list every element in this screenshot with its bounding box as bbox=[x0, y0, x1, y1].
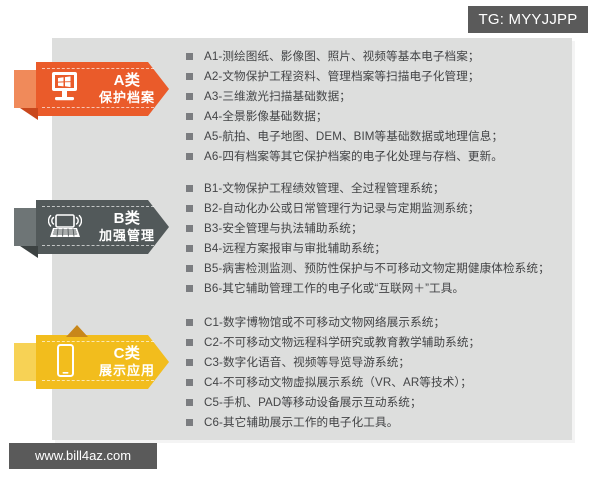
list-item: B6-其它辅助管理工作的电子化或“互联网＋”工具。 bbox=[186, 280, 588, 297]
list-item: A4-全景影像基础数据； bbox=[186, 108, 588, 125]
banner-labels: B类 加强管理 bbox=[82, 210, 169, 244]
list-item-label: B1-文物保护工程绩效管理、全过程管理系统； bbox=[204, 180, 588, 197]
bullet-icon bbox=[186, 113, 193, 120]
banner-sub-label: 加强管理 bbox=[85, 227, 169, 244]
list-item-label: C2-不可移动文物远程科学研究或教育教学辅助系统； bbox=[204, 334, 588, 351]
list-item-label: A3-三维激光扫描基础数据； bbox=[204, 88, 588, 105]
bullet-icon bbox=[186, 225, 193, 232]
list-item: B2-自动化办公或日常管理行为记录与定期监测系统； bbox=[186, 200, 588, 217]
bullet-icon bbox=[186, 379, 193, 386]
list-item-label: C5-手机、PAD等移动设备展示互动系统； bbox=[204, 394, 588, 411]
category-group-a: A1-测绘图纸、影像图、照片、视频等基本电子档案； A2-文物保护工程资料、管理… bbox=[186, 48, 588, 168]
banner-labels: C类 展示应用 bbox=[82, 345, 169, 379]
desktop-monitor-icon bbox=[48, 69, 82, 109]
category-lists: A1-测绘图纸、影像图、照片、视频等基本电子档案； A2-文物保护工程资料、管理… bbox=[186, 38, 588, 440]
list-item: A2-文物保护工程资料、管理档案等扫描电子化管理； bbox=[186, 68, 588, 85]
banner-class-label: A类 bbox=[85, 72, 169, 89]
list-item-label: C4-不可移动文物虚拟展示系统（VR、AR等技术）； bbox=[204, 374, 588, 391]
list-item: C3-数字化语音、视频等导览导游系统； bbox=[186, 354, 588, 371]
bullet-icon bbox=[186, 399, 193, 406]
list-item: C4-不可移动文物虚拟展示系统（VR、AR等技术）； bbox=[186, 374, 588, 391]
list-item-label: C6-其它辅助展示工作的电子化工具。 bbox=[204, 414, 588, 431]
list-item: B1-文物保护工程绩效管理、全过程管理系统； bbox=[186, 180, 588, 197]
list-item-label: A4-全景影像基础数据； bbox=[204, 108, 588, 125]
bullet-icon bbox=[186, 339, 193, 346]
list-item-label: B3-安全管理与执法辅助系统； bbox=[204, 220, 588, 237]
list-item: A1-测绘图纸、影像图、照片、视频等基本电子档案； bbox=[186, 48, 588, 65]
list-item-label: A2-文物保护工程资料、管理档案等扫描电子化管理； bbox=[204, 68, 588, 85]
list-item-label: B2-自动化办公或日常管理行为记录与定期监测系统； bbox=[204, 200, 588, 217]
banner-content: C类 展示应用 bbox=[36, 335, 169, 389]
bullet-icon bbox=[186, 265, 193, 272]
banner-labels: A类 保护档案 bbox=[82, 72, 169, 106]
list-item: C2-不可移动文物远程科学研究或教育教学辅助系统； bbox=[186, 334, 588, 351]
list-item: C1-数字博物馆或不可移动文物网络展示系统； bbox=[186, 314, 588, 331]
list-item: B5-病害检测监测、预防性保护与不可移动文物定期健康体检系统； bbox=[186, 260, 588, 277]
list-item-label: C3-数字化语音、视频等导览导游系统； bbox=[204, 354, 588, 371]
smartphone-icon bbox=[48, 342, 82, 382]
bullet-icon bbox=[186, 205, 193, 212]
list-item: B4-远程方案报审与审批辅助系统； bbox=[186, 240, 588, 257]
bullet-icon bbox=[186, 133, 193, 140]
list-item-label: C1-数字博物馆或不可移动文物网络展示系统； bbox=[204, 314, 588, 331]
list-item: A6-四有档案等其它保护档案的电子化处理与存档、更新。 bbox=[186, 148, 588, 165]
bullet-icon bbox=[186, 53, 193, 60]
bullet-icon bbox=[186, 153, 193, 160]
bullet-icon bbox=[186, 285, 193, 292]
list-item-label: B4-远程方案报审与审批辅助系统； bbox=[204, 240, 588, 257]
list-item-label: A5-航拍、电子地图、DEM、BIM等基础数据或地理信息； bbox=[204, 128, 588, 145]
bullet-icon bbox=[186, 93, 193, 100]
banner-class-label: B类 bbox=[85, 210, 169, 227]
list-item-label: B6-其它辅助管理工作的电子化或“互联网＋”工具。 bbox=[204, 280, 588, 297]
list-item: A5-航拍、电子地图、DEM、BIM等基础数据或地理信息； bbox=[186, 128, 588, 145]
list-item: B3-安全管理与执法辅助系统； bbox=[186, 220, 588, 237]
bullet-icon bbox=[186, 419, 193, 426]
bullet-icon bbox=[186, 185, 193, 192]
banner-content: A类 保护档案 bbox=[36, 62, 169, 116]
banner-class-label: C类 bbox=[85, 345, 169, 362]
laptop-wireless-icon bbox=[48, 207, 82, 247]
bullet-icon bbox=[186, 73, 193, 80]
list-item-label: B5-病害检测监测、预防性保护与不可移动文物定期健康体检系统； bbox=[204, 260, 588, 277]
telegram-handle-badge: TG: MYYJJPP bbox=[468, 6, 588, 33]
banner-content: B类 加强管理 bbox=[36, 200, 169, 254]
bullet-icon bbox=[186, 319, 193, 326]
category-group-b: B1-文物保护工程绩效管理、全过程管理系统； B2-自动化办公或日常管理行为记录… bbox=[186, 180, 588, 300]
list-item: C5-手机、PAD等移动设备展示互动系统； bbox=[186, 394, 588, 411]
list-item: C6-其它辅助展示工作的电子化工具。 bbox=[186, 414, 588, 431]
list-item-label: A1-测绘图纸、影像图、照片、视频等基本电子档案； bbox=[204, 48, 588, 65]
category-group-c: C1-数字博物馆或不可移动文物网络展示系统； C2-不可移动文物远程科学研究或教… bbox=[186, 314, 588, 434]
list-item: A3-三维激光扫描基础数据； bbox=[186, 88, 588, 105]
site-watermark: www.bill4az.com bbox=[9, 443, 157, 469]
bullet-icon bbox=[186, 359, 193, 366]
banner-sub-label: 保护档案 bbox=[85, 89, 169, 106]
list-item-label: A6-四有档案等其它保护档案的电子化处理与存档、更新。 bbox=[204, 148, 588, 165]
banner-sub-label: 展示应用 bbox=[85, 362, 169, 379]
bullet-icon bbox=[186, 245, 193, 252]
